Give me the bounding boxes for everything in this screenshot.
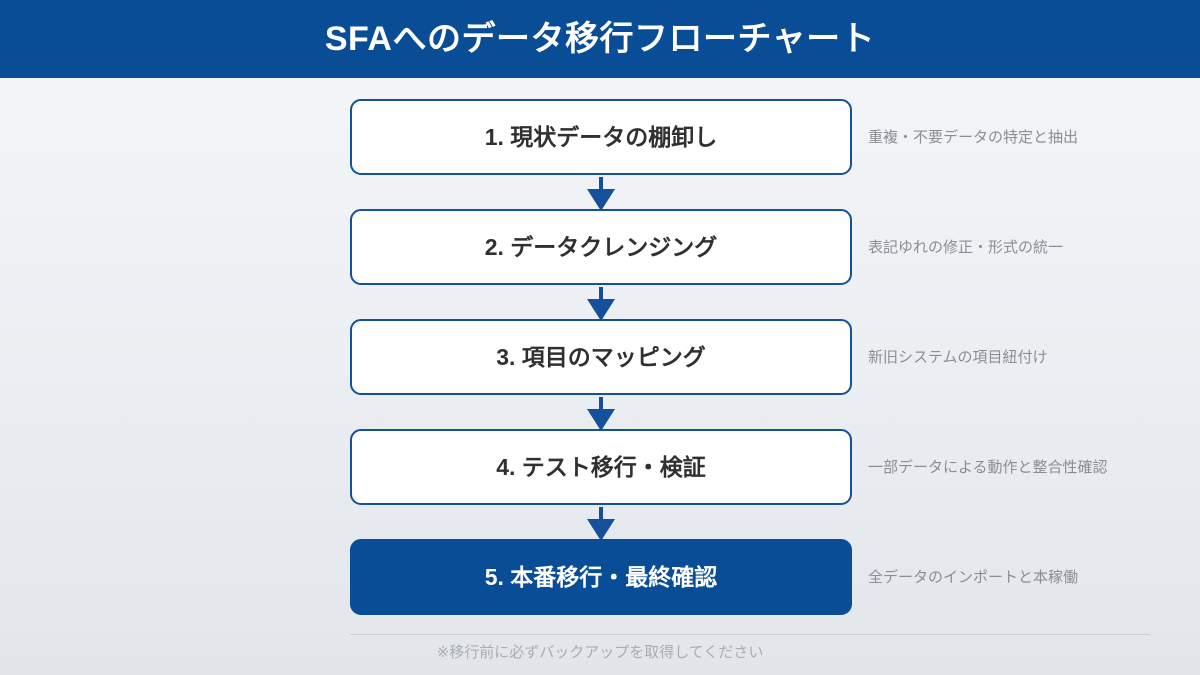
flow-step-4: 4. テスト移行・検証 一部データによる動作と整合性確認 [350, 429, 1200, 505]
page-title: SFAへのデータ移行フローチャート [325, 22, 875, 56]
step-box-3[interactable]: 3. 項目のマッピング [350, 319, 852, 395]
arrow-down-icon-3 [587, 397, 615, 431]
step-note-4: 一部データによる動作と整合性確認 [868, 429, 1108, 505]
footer-divider [350, 634, 1150, 635]
step-note-3: 新旧システムの項目紐付け [868, 319, 1048, 395]
arrow-down-icon-4 [587, 507, 615, 541]
step-label-2: 2. データクレンジング [485, 236, 718, 259]
step-box-4[interactable]: 4. テスト移行・検証 [350, 429, 852, 505]
arrow-head [587, 409, 615, 431]
step-label-3: 3. 項目のマッピング [496, 346, 706, 369]
flow-step-1: 1. 現状データの棚卸し 重複・不要データの特定と抽出 [350, 99, 1200, 175]
arrow-head [587, 189, 615, 211]
footer-note: ※移行前に必ずバックアップを取得してください [0, 638, 1200, 668]
step-box-2[interactable]: 2. データクレンジング [350, 209, 852, 285]
step-label-4: 4. テスト移行・検証 [496, 456, 706, 479]
step-box-5[interactable]: 5. 本番移行・最終確認 [350, 539, 852, 615]
flow-step-2: 2. データクレンジング 表記ゆれの修正・形式の統一 [350, 209, 1200, 285]
flowchart-page: SFAへのデータ移行フローチャート 1. 現状データの棚卸し 重複・不要データの… [0, 0, 1200, 675]
step-note-5: 全データのインポートと本稼働 [868, 539, 1078, 615]
step-note-1: 重複・不要データの特定と抽出 [868, 99, 1078, 175]
step-note-2: 表記ゆれの修正・形式の統一 [868, 209, 1063, 285]
step-label-5: 5. 本番移行・最終確認 [485, 566, 718, 589]
header-banner: SFAへのデータ移行フローチャート [0, 0, 1200, 78]
flow-step-3: 3. 項目のマッピング 新旧システムの項目紐付け [350, 319, 1200, 395]
step-box-1[interactable]: 1. 現状データの棚卸し [350, 99, 852, 175]
arrow-down-icon-2 [587, 287, 615, 321]
arrow-head [587, 519, 615, 541]
arrow-down-icon-1 [587, 177, 615, 211]
flow-diagram: 1. 現状データの棚卸し 重複・不要データの特定と抽出 2. データクレンジング… [0, 78, 1200, 623]
step-label-1: 1. 現状データの棚卸し [485, 126, 718, 149]
arrow-head [587, 299, 615, 321]
flow-step-5: 5. 本番移行・最終確認 全データのインポートと本稼働 [350, 539, 1200, 615]
